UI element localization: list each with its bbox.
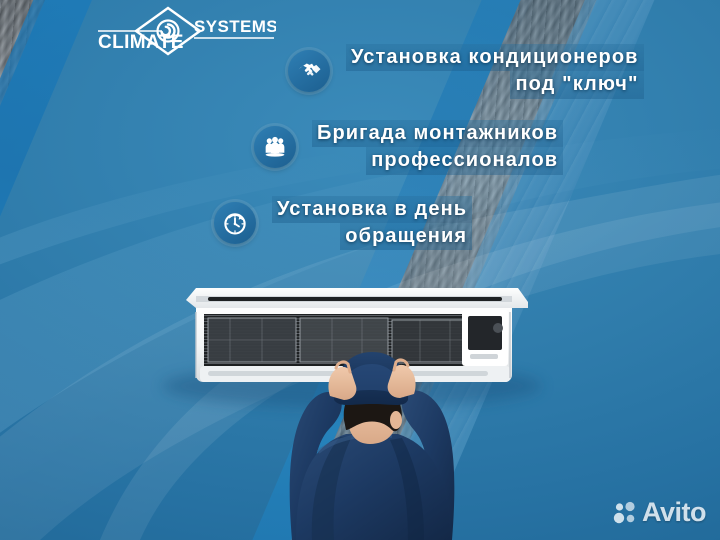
feature-line-2-1: обращения [340, 223, 472, 250]
advertisement-banner: CLIMATE SYSTEMS Установка кондиционеров … [0, 0, 720, 540]
feature-line-1-1: профессионалов [366, 147, 563, 174]
feature-list: Установка кондиционеров под "ключ" Брига… [0, 44, 720, 271]
logo-word-systems: SYSTEMS [194, 17, 276, 36]
feature-text-group: Бригада монтажников профессионалов [312, 120, 563, 175]
avito-watermark: Avito [613, 497, 706, 528]
feature-line-2-0: Установка в день [272, 196, 472, 223]
team-people-icon [254, 126, 296, 168]
feature-text-group: Установка кондиционеров под "ключ" [346, 44, 644, 99]
fast-clock-icon [214, 202, 256, 244]
feature-line-0-1: под "ключ" [510, 71, 643, 98]
feature-line-1-0: Бригада монтажников [312, 120, 563, 147]
feature-row-professional-crew: Бригада монтажников профессионалов [254, 120, 720, 175]
feature-row-installation-turnkey: Установка кондиционеров под "ключ" [288, 44, 720, 99]
avito-wordmark: Avito [642, 497, 706, 528]
logo-word-climate: CLIMATE [98, 32, 184, 53]
avito-dots-icon [613, 501, 637, 525]
handshake-icon [288, 50, 330, 92]
feature-line-0-0: Установка кондиционеров [346, 44, 644, 71]
feature-row-same-day-installation: Установка в день обращения [214, 196, 720, 251]
feature-text-group: Установка в день обращения [272, 196, 472, 251]
brand-logo[interactable]: CLIMATE SYSTEMS [96, 4, 276, 62]
